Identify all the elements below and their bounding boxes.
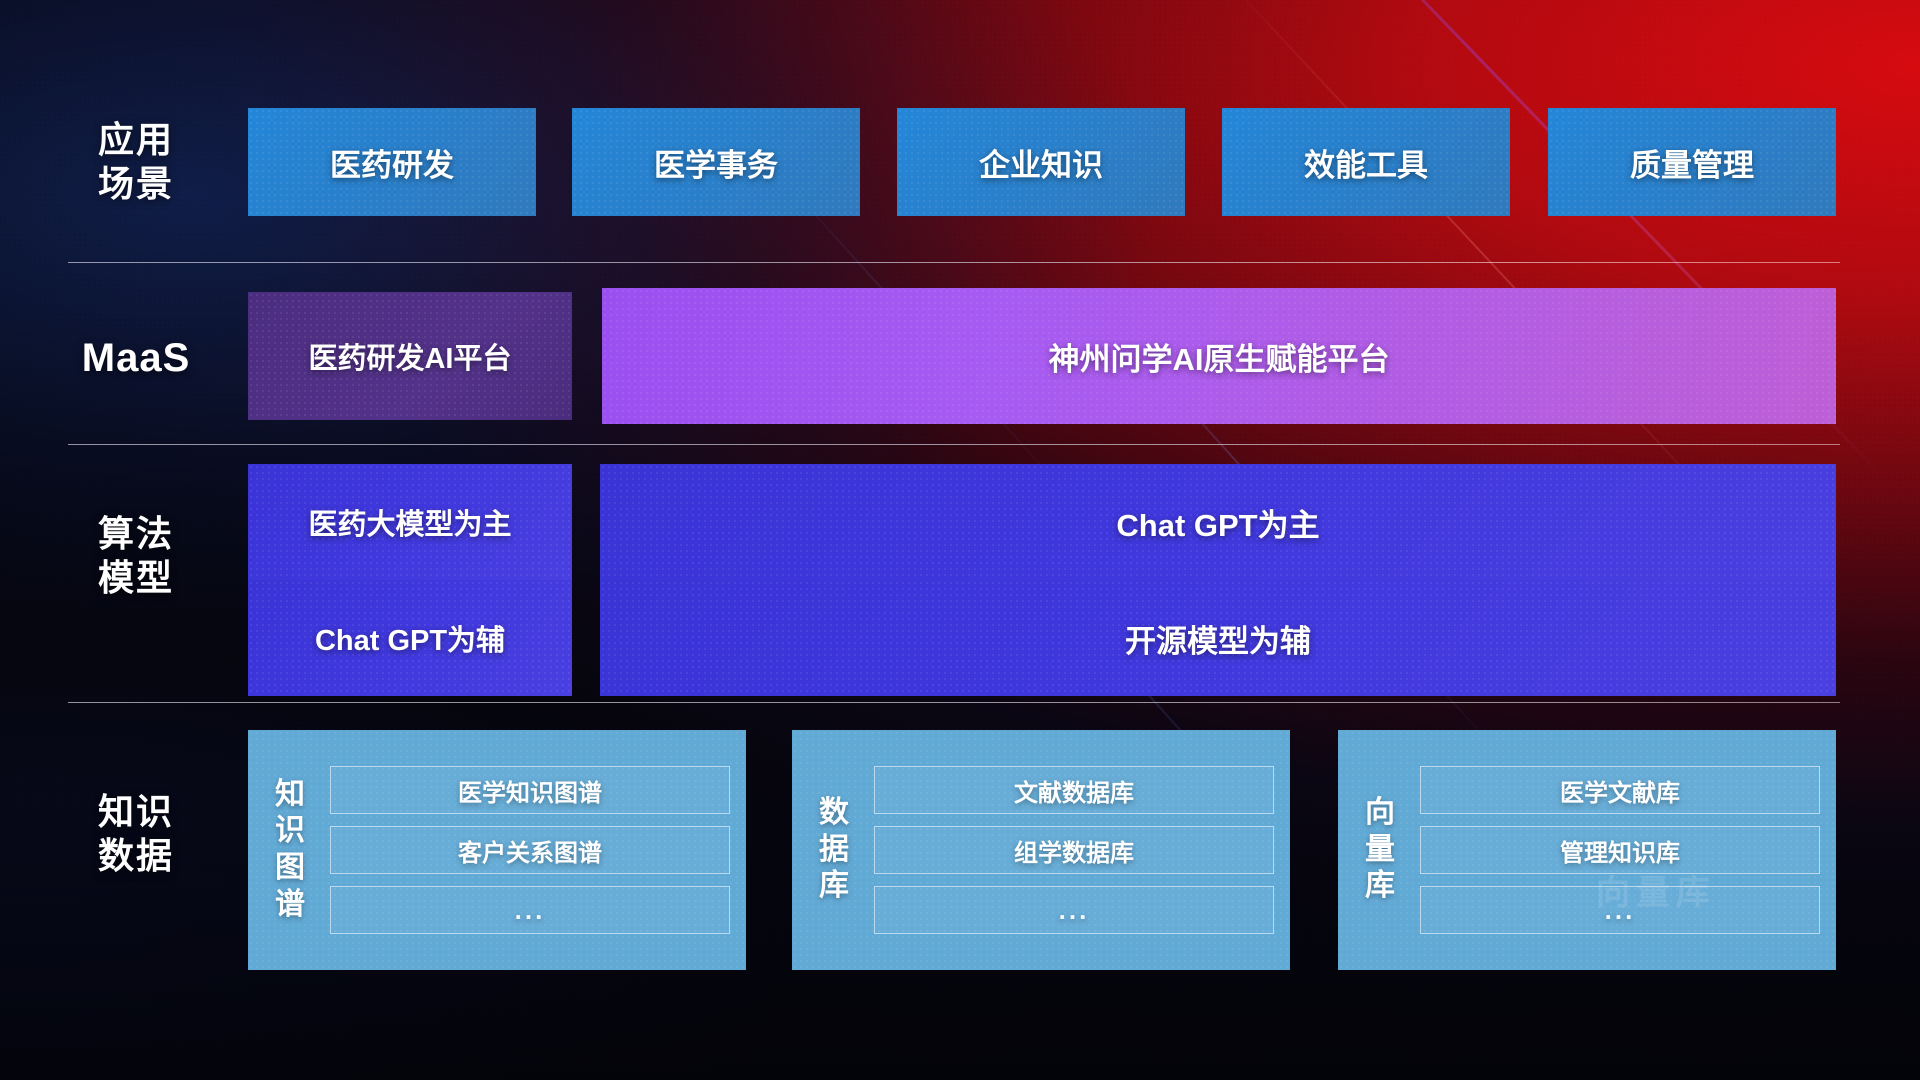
row-label-application: 应用 场景	[68, 118, 204, 206]
app-box-quality-management-label: 质量管理	[1630, 140, 1754, 185]
algo-box-pharma-llm-primary[interactable]: 医药大模型为主	[248, 464, 572, 580]
knowledge-item-medical-literature-store[interactable]: 医学文献库	[1420, 766, 1820, 814]
maas-box-drug-rd-ai-platform[interactable]: 医药研发AI平台	[248, 292, 572, 420]
knowledge-panel-database-title-text: 数据库	[819, 795, 849, 905]
algo-box-chatgpt-secondary[interactable]: Chat GPT为辅	[248, 580, 572, 696]
maas-box-shenzhou-wenxue-platform[interactable]: 神州问学AI原生赋能平台	[602, 288, 1836, 424]
knowledge-panel-database-title: 数据库	[806, 744, 862, 956]
knowledge-panel-knowledge-graph[interactable]: 知识图谱 医学知识图谱 客户关系图谱 ...	[248, 730, 746, 970]
row-label-knowledge-line1: 知识	[68, 790, 204, 834]
app-box-enterprise-knowledge[interactable]: 企业知识	[897, 108, 1185, 216]
knowledge-panel-vector-store-title: 向量库	[1352, 744, 1408, 956]
knowledge-item-management-knowledge-store-label: 管理知识库	[1560, 833, 1680, 868]
knowledge-item-vector-more-label: ...	[1605, 895, 1636, 926]
knowledge-item-literature-database[interactable]: 文献数据库	[874, 766, 1274, 814]
divider-application-maas	[68, 262, 1840, 263]
knowledge-item-omics-database-label: 组学数据库	[1014, 833, 1134, 868]
divider-maas-algorithm	[68, 444, 1840, 445]
knowledge-item-medical-knowledge-graph[interactable]: 医学知识图谱	[330, 766, 730, 814]
knowledge-item-medical-literature-store-label: 医学文献库	[1560, 773, 1680, 808]
row-label-knowledge: 知识 数据	[68, 790, 204, 878]
knowledge-item-customer-relation-graph[interactable]: 客户关系图谱	[330, 826, 730, 874]
knowledge-item-database-more[interactable]: ...	[874, 886, 1274, 934]
knowledge-panel-vector-store-title-text: 向量库	[1365, 795, 1395, 905]
algo-box-pharma-llm-primary-label: 医药大模型为主	[308, 501, 511, 543]
algo-box-chatgpt-secondary-label: Chat GPT为辅	[315, 617, 505, 659]
knowledge-item-management-knowledge-store[interactable]: 管理知识库	[1420, 826, 1820, 874]
knowledge-item-database-more-label: ...	[1059, 895, 1090, 926]
knowledge-panel-database[interactable]: 数据库 文献数据库 组学数据库 ...	[792, 730, 1290, 970]
row-label-knowledge-line2: 数据	[68, 834, 204, 878]
row-label-algorithm: 算法 模型	[68, 512, 204, 600]
row-label-algorithm-line1: 算法	[68, 512, 204, 556]
knowledge-item-customer-relation-graph-label: 客户关系图谱	[458, 833, 602, 868]
algo-box-open-source-secondary[interactable]: 开源模型为辅	[600, 580, 1836, 696]
algo-box-open-source-secondary-label: 开源模型为辅	[1125, 616, 1311, 661]
app-box-quality-management[interactable]: 质量管理	[1548, 108, 1836, 216]
knowledge-panel-knowledge-graph-title-text: 知识图谱	[275, 777, 305, 923]
algo-box-chatgpt-primary-label: Chat GPT为主	[1116, 500, 1319, 545]
algo-box-chatgpt-primary[interactable]: Chat GPT为主	[600, 464, 1836, 580]
row-label-maas: MaaS	[68, 334, 204, 383]
maas-box-drug-rd-ai-platform-label: 医药研发AI平台	[308, 335, 511, 377]
architecture-diagram-canvas: 应用 场景 医药研发 医学事务 企业知识 效能工具 质量管理 MaaS 医药研发…	[0, 0, 1920, 1080]
knowledge-item-omics-database[interactable]: 组学数据库	[874, 826, 1274, 874]
divider-algorithm-knowledge	[68, 702, 1840, 703]
app-box-efficiency-tools-label: 效能工具	[1304, 140, 1428, 185]
app-box-medical-affairs-label: 医学事务	[654, 140, 778, 185]
maas-box-shenzhou-wenxue-platform-label: 神州问学AI原生赋能平台	[1049, 334, 1390, 379]
app-box-efficiency-tools[interactable]: 效能工具	[1222, 108, 1510, 216]
knowledge-item-graph-more-label: ...	[515, 895, 546, 926]
knowledge-item-graph-more[interactable]: ...	[330, 886, 730, 934]
app-box-medical-affairs[interactable]: 医学事务	[572, 108, 860, 216]
knowledge-panel-knowledge-graph-title: 知识图谱	[262, 744, 318, 956]
app-box-drug-rd-label: 医药研发	[330, 140, 454, 185]
knowledge-item-medical-knowledge-graph-label: 医学知识图谱	[458, 773, 602, 808]
knowledge-item-literature-database-label: 文献数据库	[1014, 773, 1134, 808]
row-label-application-line2: 场景	[68, 162, 204, 206]
app-box-drug-rd[interactable]: 医药研发	[248, 108, 536, 216]
row-label-algorithm-line2: 模型	[68, 556, 204, 600]
knowledge-panel-vector-store[interactable]: 向量库 医学文献库 管理知识库 ... 向量库	[1338, 730, 1836, 970]
row-label-application-line1: 应用	[68, 118, 204, 162]
app-box-enterprise-knowledge-label: 企业知识	[979, 140, 1103, 185]
row-label-maas-text: MaaS	[68, 334, 204, 383]
knowledge-item-vector-more[interactable]: ...	[1420, 886, 1820, 934]
